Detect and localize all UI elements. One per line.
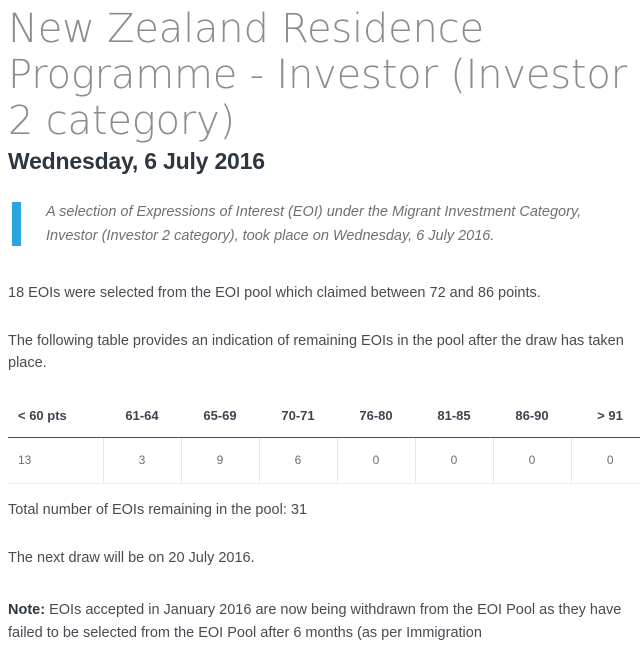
- note-body: EOIs accepted in January 2016 are now be…: [8, 602, 621, 641]
- table-cell: 0: [493, 438, 571, 484]
- table-header-cell: 81-85: [415, 404, 493, 438]
- table-cell: 3: [103, 438, 181, 484]
- paragraph-eois-selected: 18 EOIs were selected from the EOI pool …: [8, 282, 632, 304]
- paragraph-note: Note: EOIs accepted in January 2016 are …: [8, 599, 632, 645]
- paragraph-next-draw: The next draw will be on 20 July 2016.: [8, 547, 632, 569]
- summary-blockquote: A selection of Expressions of Interest (…: [8, 200, 632, 248]
- note-label: Note:: [8, 602, 45, 618]
- table-header-cell: 65-69: [181, 404, 259, 438]
- table-header-cell: > 91: [571, 404, 640, 438]
- table-cell: 13: [8, 438, 103, 484]
- table-cell: 0: [571, 438, 640, 484]
- table-header-cell: < 60 pts: [8, 404, 103, 438]
- page-date-subtitle: Wednesday, 6 July 2016: [8, 146, 632, 176]
- table-header-cell: 76-80: [337, 404, 415, 438]
- eoi-pool-table: < 60 pts 61-64 65-69 70-71 76-80 81-85 8…: [8, 404, 640, 484]
- article-page: New Zealand Residence Programme - Invest…: [0, 0, 640, 614]
- blockquote-text: A selection of Expressions of Interest (…: [46, 200, 632, 248]
- accent-bar-icon: [12, 202, 21, 246]
- table-header-cell: 61-64: [103, 404, 181, 438]
- table-header-cell: 70-71: [259, 404, 337, 438]
- paragraph-table-intro: The following table provides an indicati…: [8, 330, 632, 374]
- table-cell: 0: [415, 438, 493, 484]
- table-row: 13 3 9 6 0 0 0 0: [8, 438, 640, 484]
- table-cell: 6: [259, 438, 337, 484]
- paragraph-total-remaining: Total number of EOIs remaining in the po…: [8, 499, 632, 521]
- page-title: New Zealand Residence Programme - Invest…: [8, 0, 632, 144]
- table-cell: 0: [337, 438, 415, 484]
- table-cell: 9: [181, 438, 259, 484]
- table-header-row: < 60 pts 61-64 65-69 70-71 76-80 81-85 8…: [8, 404, 640, 438]
- table-header-cell: 86-90: [493, 404, 571, 438]
